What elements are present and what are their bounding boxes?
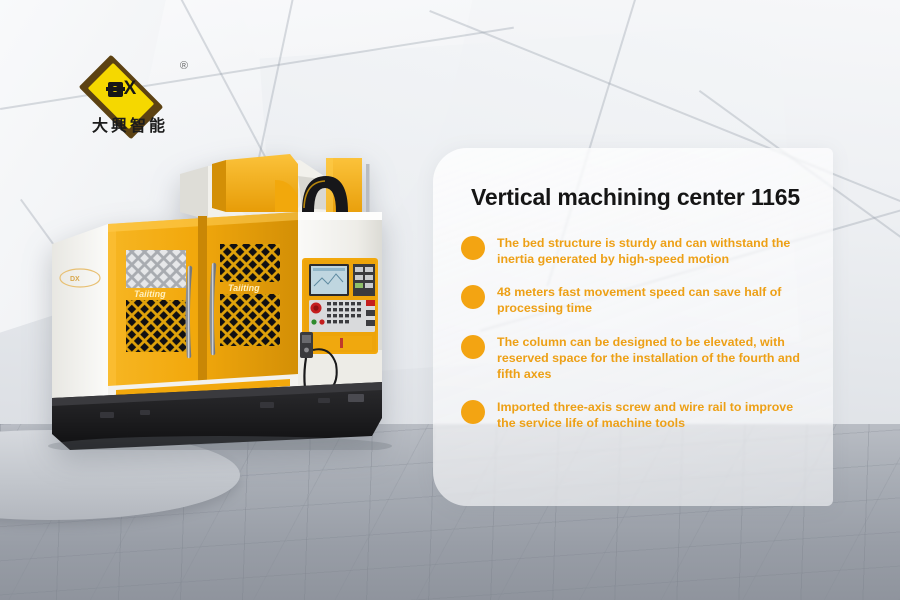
machine-image: Taiiting Taiiting DX [30,150,400,450]
machine-guide-rod [366,164,370,218]
gear-icon [108,82,123,97]
machine-left-cabinet: DX [52,224,108,412]
list-item: 48 meters fast movement speed can save h… [461,284,807,316]
feature-text: The bed structure is sturdy and can with… [497,235,807,267]
product-info-card: Vertical machining center 1165 The bed s… [433,148,833,506]
product-info-card-content: Vertical machining center 1165 The bed s… [433,148,833,506]
svg-text:DX: DX [70,276,80,283]
logo-chinese-name: 大興智能 [72,112,188,136]
logo-lettermark: X [96,77,148,101]
list-item: The bed structure is sturdy and can with… [461,235,807,267]
logo-letter-x: X [124,78,137,100]
door-brand-left: Taiiting [134,289,166,299]
product-banner: X ® 大興智能 [0,0,900,600]
bullet-dot-icon [461,236,485,260]
machine-svg: Taiiting Taiiting DX [30,150,400,450]
list-item: Imported three-axis screw and wire rail … [461,399,807,431]
page-title: Vertical machining center 1165 [471,184,807,211]
machine-door-right: Taiiting [220,244,280,346]
feature-text: 48 meters fast movement speed can save h… [497,284,807,316]
machine-door-left: Taiiting [126,250,186,352]
feature-list: The bed structure is sturdy and can with… [461,235,807,431]
registered-trademark-icon: ® [180,60,188,72]
bullet-dot-icon [461,285,485,309]
machine-column-top [212,154,298,212]
company-logo: X ® 大興智能 [72,56,188,144]
feature-text: Imported three-axis screw and wire rail … [497,399,807,431]
door-brand-right: Taiiting [228,283,260,293]
feature-text: The column can be designed to be elevate… [497,334,807,382]
machine-control-panel [302,258,378,354]
bullet-dot-icon [461,400,485,424]
bullet-dot-icon [461,335,485,359]
list-item: The column can be designed to be elevate… [461,334,807,382]
